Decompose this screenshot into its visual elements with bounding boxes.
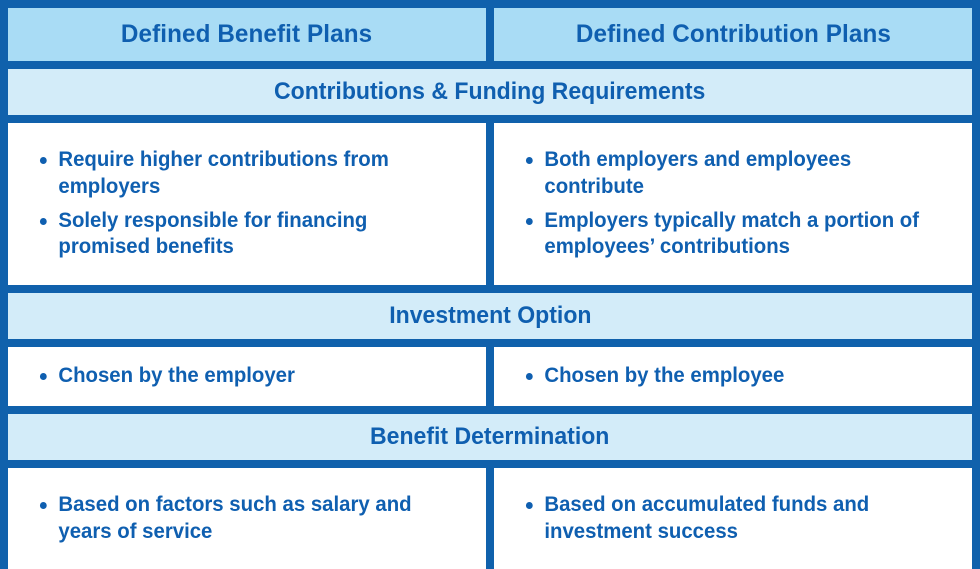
section-band-label: Contributions & Funding Requirements xyxy=(274,80,705,104)
list-item-text: Solely responsible for financing promise… xyxy=(58,209,367,259)
list-item-text: Chosen by the employee xyxy=(544,364,784,387)
content-row-contributions: Require higher contributions from employ… xyxy=(8,123,972,285)
content-cell-left: Require higher contributions from employ… xyxy=(8,123,486,285)
list-item: Employers typically match a portion of e… xyxy=(524,208,945,262)
list-item-text: Based on accumulated funds and investmen… xyxy=(544,493,869,543)
bullet-icon xyxy=(40,157,47,164)
bullet-icon xyxy=(526,157,533,164)
list-item-text: Based on factors such as salary and year… xyxy=(58,493,411,543)
comparison-table: Defined Benefit Plans Defined Contributi… xyxy=(0,0,980,543)
list-item: Both employers and employees contribute xyxy=(524,147,945,201)
header-label-right: Defined Contribution Plans xyxy=(575,22,890,47)
section-band-row-benefit-determination: Benefit Determination xyxy=(8,414,972,460)
section-band-cell: Investment Option xyxy=(8,293,972,339)
bullet-icon xyxy=(526,373,533,380)
content-cell-right: Both employers and employees contribute … xyxy=(494,123,972,285)
list-item: Require higher contributions from employ… xyxy=(38,147,459,201)
bullet-list-right: Chosen by the employee xyxy=(494,363,972,390)
bullet-list-right: Both employers and employees contribute … xyxy=(494,147,972,262)
section-band-cell: Benefit Determination xyxy=(8,414,972,460)
section-band-row-investment-option: Investment Option xyxy=(8,293,972,339)
content-cell-left: Chosen by the employer xyxy=(8,347,486,406)
bullet-list-left: Require higher contributions from employ… xyxy=(8,147,486,262)
list-item: Chosen by the employee xyxy=(524,363,945,390)
list-item: Chosen by the employer xyxy=(38,363,459,390)
table-header-row: Defined Benefit Plans Defined Contributi… xyxy=(8,8,972,61)
list-item-text: Chosen by the employer xyxy=(58,364,295,387)
list-item: Based on factors such as salary and year… xyxy=(38,492,459,546)
header-cell-defined-benefit-plans: Defined Benefit Plans xyxy=(8,8,486,61)
section-band-label: Investment Option xyxy=(389,304,591,328)
section-band-row-contributions: Contributions & Funding Requirements xyxy=(8,69,972,115)
list-item-text: Both employers and employees contribute xyxy=(544,148,851,198)
header-cell-defined-contribution-plans: Defined Contribution Plans xyxy=(494,8,972,61)
bullet-icon xyxy=(40,218,47,225)
list-item-text: Require higher contributions from employ… xyxy=(58,148,388,198)
list-item: Based on accumulated funds and investmen… xyxy=(524,492,945,546)
bullet-icon xyxy=(40,502,47,509)
list-item: Solely responsible for financing promise… xyxy=(38,208,459,262)
content-cell-right: Chosen by the employee xyxy=(494,347,972,406)
header-label-left: Defined Benefit Plans xyxy=(121,22,372,47)
content-cell-left: Based on factors such as salary and year… xyxy=(8,468,486,569)
bullet-list-right: Based on accumulated funds and investmen… xyxy=(494,492,972,546)
section-band-cell: Contributions & Funding Requirements xyxy=(8,69,972,115)
content-cell-right: Based on accumulated funds and investmen… xyxy=(494,468,972,569)
list-item-text: Employers typically match a portion of e… xyxy=(544,209,919,259)
content-row-benefit-determination: Based on factors such as salary and year… xyxy=(8,468,972,569)
bullet-list-left: Chosen by the employer xyxy=(8,363,486,390)
bullet-icon xyxy=(526,502,533,509)
bullet-list-left: Based on factors such as salary and year… xyxy=(8,492,486,546)
content-row-investment-option: Chosen by the employer Chosen by the emp… xyxy=(8,347,972,406)
bullet-icon xyxy=(526,218,533,225)
section-band-label: Benefit Determination xyxy=(370,425,609,449)
bullet-icon xyxy=(40,373,47,380)
